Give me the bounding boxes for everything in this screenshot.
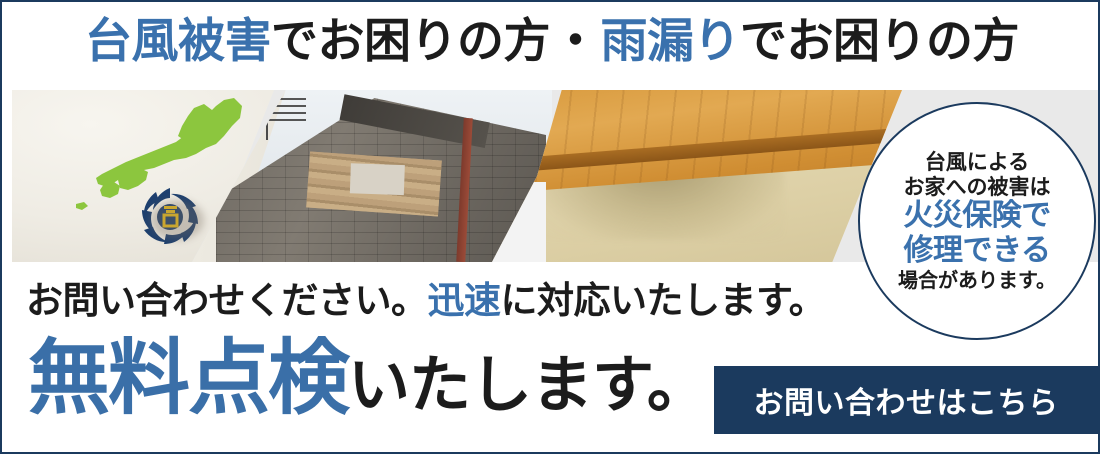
free-inspection-highlight: 無料点検 — [28, 331, 348, 426]
midline: お問い合わせください。迅速に対応いたします。 — [26, 270, 856, 324]
ceiling-water-leak-photo — [492, 90, 902, 262]
badge-line-4-highlight: 修理できる — [904, 234, 1051, 269]
badge-line-2: お家への被害は — [904, 175, 1051, 199]
typhoon-symbol — [140, 186, 200, 246]
headline-highlight-leak: 雨漏り — [601, 14, 741, 69]
headline-text-2: でお困りの方 — [740, 14, 1019, 69]
midline-highlight-fast: 迅速 — [428, 279, 501, 322]
badge-line-3-highlight: 火災保険で — [903, 199, 1051, 234]
typhoon-damage-ad-banner: 台風被害でお困りの方・雨漏りでお困りの方 — [0, 0, 1100, 454]
badge-line-1: 台風による — [925, 150, 1029, 174]
headline-text-1: でお困りの方 — [271, 14, 550, 69]
insurance-badge: 台風による お家への被害は 火災保険で 修理できる 場合があります。 — [858, 102, 1096, 340]
contact-cta-button[interactable]: お問い合わせはこちら — [714, 366, 1098, 434]
headline-highlight-typhoon: 台風被害 — [85, 14, 271, 69]
badge-line-5: 場合があります。 — [898, 269, 1056, 292]
typhoon-shadow — [150, 200, 204, 240]
bottom-headline: 無料点検いたします。 — [28, 338, 708, 420]
midline-text-1: お問い合わせください。 — [26, 279, 428, 322]
midline-text-2: に対応いたします。 — [501, 279, 826, 322]
contact-cta-label: お問い合わせはこちら — [754, 378, 1059, 422]
headline: 台風被害でお困りの方・雨漏りでお困りの方 — [2, 16, 1100, 69]
headline-separator: ・ — [550, 14, 601, 69]
bottom-headline-rest: いたします。 — [348, 348, 708, 421]
roof-damage-area — [306, 151, 442, 216]
